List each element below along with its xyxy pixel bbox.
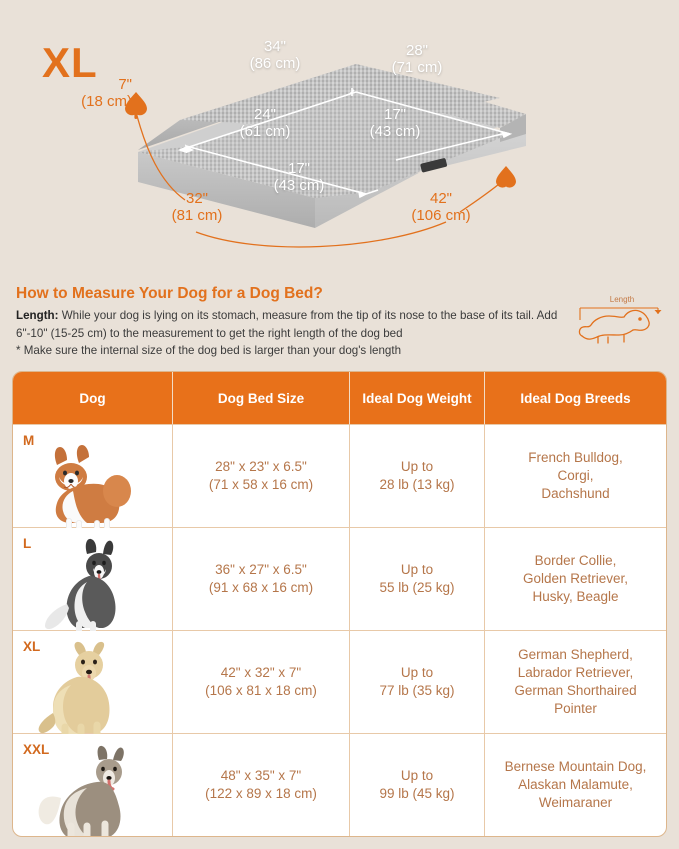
breed-line: German Shepherd, [514,646,636,664]
breed-line: Husky, Beagle [523,588,628,606]
weight-prefix: Up to [379,664,454,682]
dog-measure-icon: Length [572,290,672,352]
bed-size-imperial: 42" x 32" x 7" [205,664,317,682]
dimension-inner-right: 17" (43 cm) [350,106,440,141]
measure-line-1: While your dog is lying on its stomach, … [16,309,557,340]
cell-breeds: German Shepherd, Labrador Retriever, Ger… [485,631,666,733]
corgi-illustration [55,445,131,528]
breed-line: Golden Retriever, [523,570,628,588]
weight-prefix: Up to [379,767,454,785]
labrador-photo [13,631,173,734]
column-header-bed-size: Dog Bed Size [173,372,350,424]
breed-line: Alaskan Malamute, [505,776,647,794]
corgi-photo [13,425,173,528]
bed-size-metric: (91 x 68 x 16 cm) [209,579,313,597]
dimension-width: 42" (106 cm) [388,190,494,225]
column-header-weight: Ideal Dog Weight [350,372,485,424]
bed-size-metric: (106 x 81 x 18 cm) [205,682,317,700]
weight-value: 28 lb (13 kg) [379,476,454,494]
breed-line: Weimaraner [505,794,647,812]
bed-size-imperial: 36" x 27" x 6.5" [209,561,313,579]
breed-line: German Shorthaired [514,682,636,700]
cell-breeds: Border Collie, Golden Retriever, Husky, … [485,528,666,630]
weight-prefix: Up to [379,458,454,476]
hero-product-section: XL [0,0,679,272]
cell-dog-photo: L [13,528,173,630]
cell-bed-size: 42" x 32" x 7" (106 x 81 x 18 cm) [173,631,350,733]
breed-line: Border Collie, [523,552,628,570]
breed-line: Bernese Mountain Dog, [505,758,647,776]
dimension-inner-left: 24" (61 cm) [220,106,310,141]
dimension-height: 7" (18 cm) [36,76,132,111]
column-header-dog: Dog [13,372,173,424]
bed-size-imperial: 28" x 23" x 6.5" [209,458,313,476]
cell-weight: Up to 55 lb (25 kg) [350,528,485,630]
cell-dog-photo: XL [13,631,173,733]
cell-bed-size: 36" x 27" x 6.5" (91 x 68 x 16 cm) [173,528,350,630]
dimension-outer-top-left: 34" (86 cm) [230,38,320,73]
table-row: XL [13,630,666,733]
dimension-depth: 32" (81 cm) [152,190,242,225]
cell-weight: Up to 77 lb (35 kg) [350,631,485,733]
table-row: M [13,424,666,527]
cell-weight: Up to 28 lb (13 kg) [350,425,485,527]
bed-size-metric: (71 x 58 x 16 cm) [209,476,313,494]
labrador-illustration [39,642,110,734]
column-header-breeds: Ideal Dog Breeds [485,372,666,424]
table-header-row: Dog Dog Bed Size Ideal Dog Weight Ideal … [13,372,666,424]
cell-dog-photo: XXL [13,734,173,836]
measure-title: How to Measure Your Dog for a Dog Bed? [16,285,323,303]
cell-breeds: French Bulldog, Corgi, Dachshund [485,425,666,527]
cell-bed-size: 28" x 23" x 6.5" (71 x 58 x 16 cm) [173,425,350,527]
how-to-measure-section: How to Measure Your Dog for a Dog Bed? L… [0,282,679,368]
breed-line: Labrador Retriever, [514,664,636,682]
breed-line: Pointer [514,700,636,718]
malamute-photo [13,734,173,837]
border-collie-illustration [45,539,116,631]
size-comparison-table: Dog Dog Bed Size Ideal Dog Weight Ideal … [12,371,667,837]
bed-size-imperial: 48" x 35" x 7" [205,767,317,785]
malamute-illustration [39,746,124,837]
cell-dog-photo: M [13,425,173,527]
dimension-outer-top-right: 28" (71 cm) [372,42,462,77]
breed-line: French Bulldog, [528,449,623,467]
weight-value: 99 lb (45 kg) [379,785,454,803]
measure-lead-label: Length: [16,309,59,322]
weight-value: 77 lb (35 kg) [379,682,454,700]
cell-breeds: Bernese Mountain Dog, Alaskan Malamute, … [485,734,666,836]
table-row: XXL [13,733,666,836]
breed-line: Corgi, [528,467,623,485]
weight-value: 55 lb (25 kg) [379,579,454,597]
diagram-length-label: Length [610,295,634,304]
product-size-infographic: XL [0,0,679,849]
border-collie-photo [13,528,173,631]
measure-line-2: * Make sure the internal size of the dog… [16,344,401,357]
bed-size-metric: (122 x 89 x 18 cm) [205,785,317,803]
table-row: L [13,527,666,630]
measure-description: Length: While your dog is lying on its s… [16,307,568,360]
breed-line: Dachshund [528,485,623,503]
cell-bed-size: 48" x 35" x 7" (122 x 89 x 18 cm) [173,734,350,836]
weight-prefix: Up to [379,561,454,579]
cell-weight: Up to 99 lb (45 kg) [350,734,485,836]
dimension-inner-bottom: 17" (43 cm) [254,160,344,195]
dog-length-diagram: Length [572,290,672,352]
